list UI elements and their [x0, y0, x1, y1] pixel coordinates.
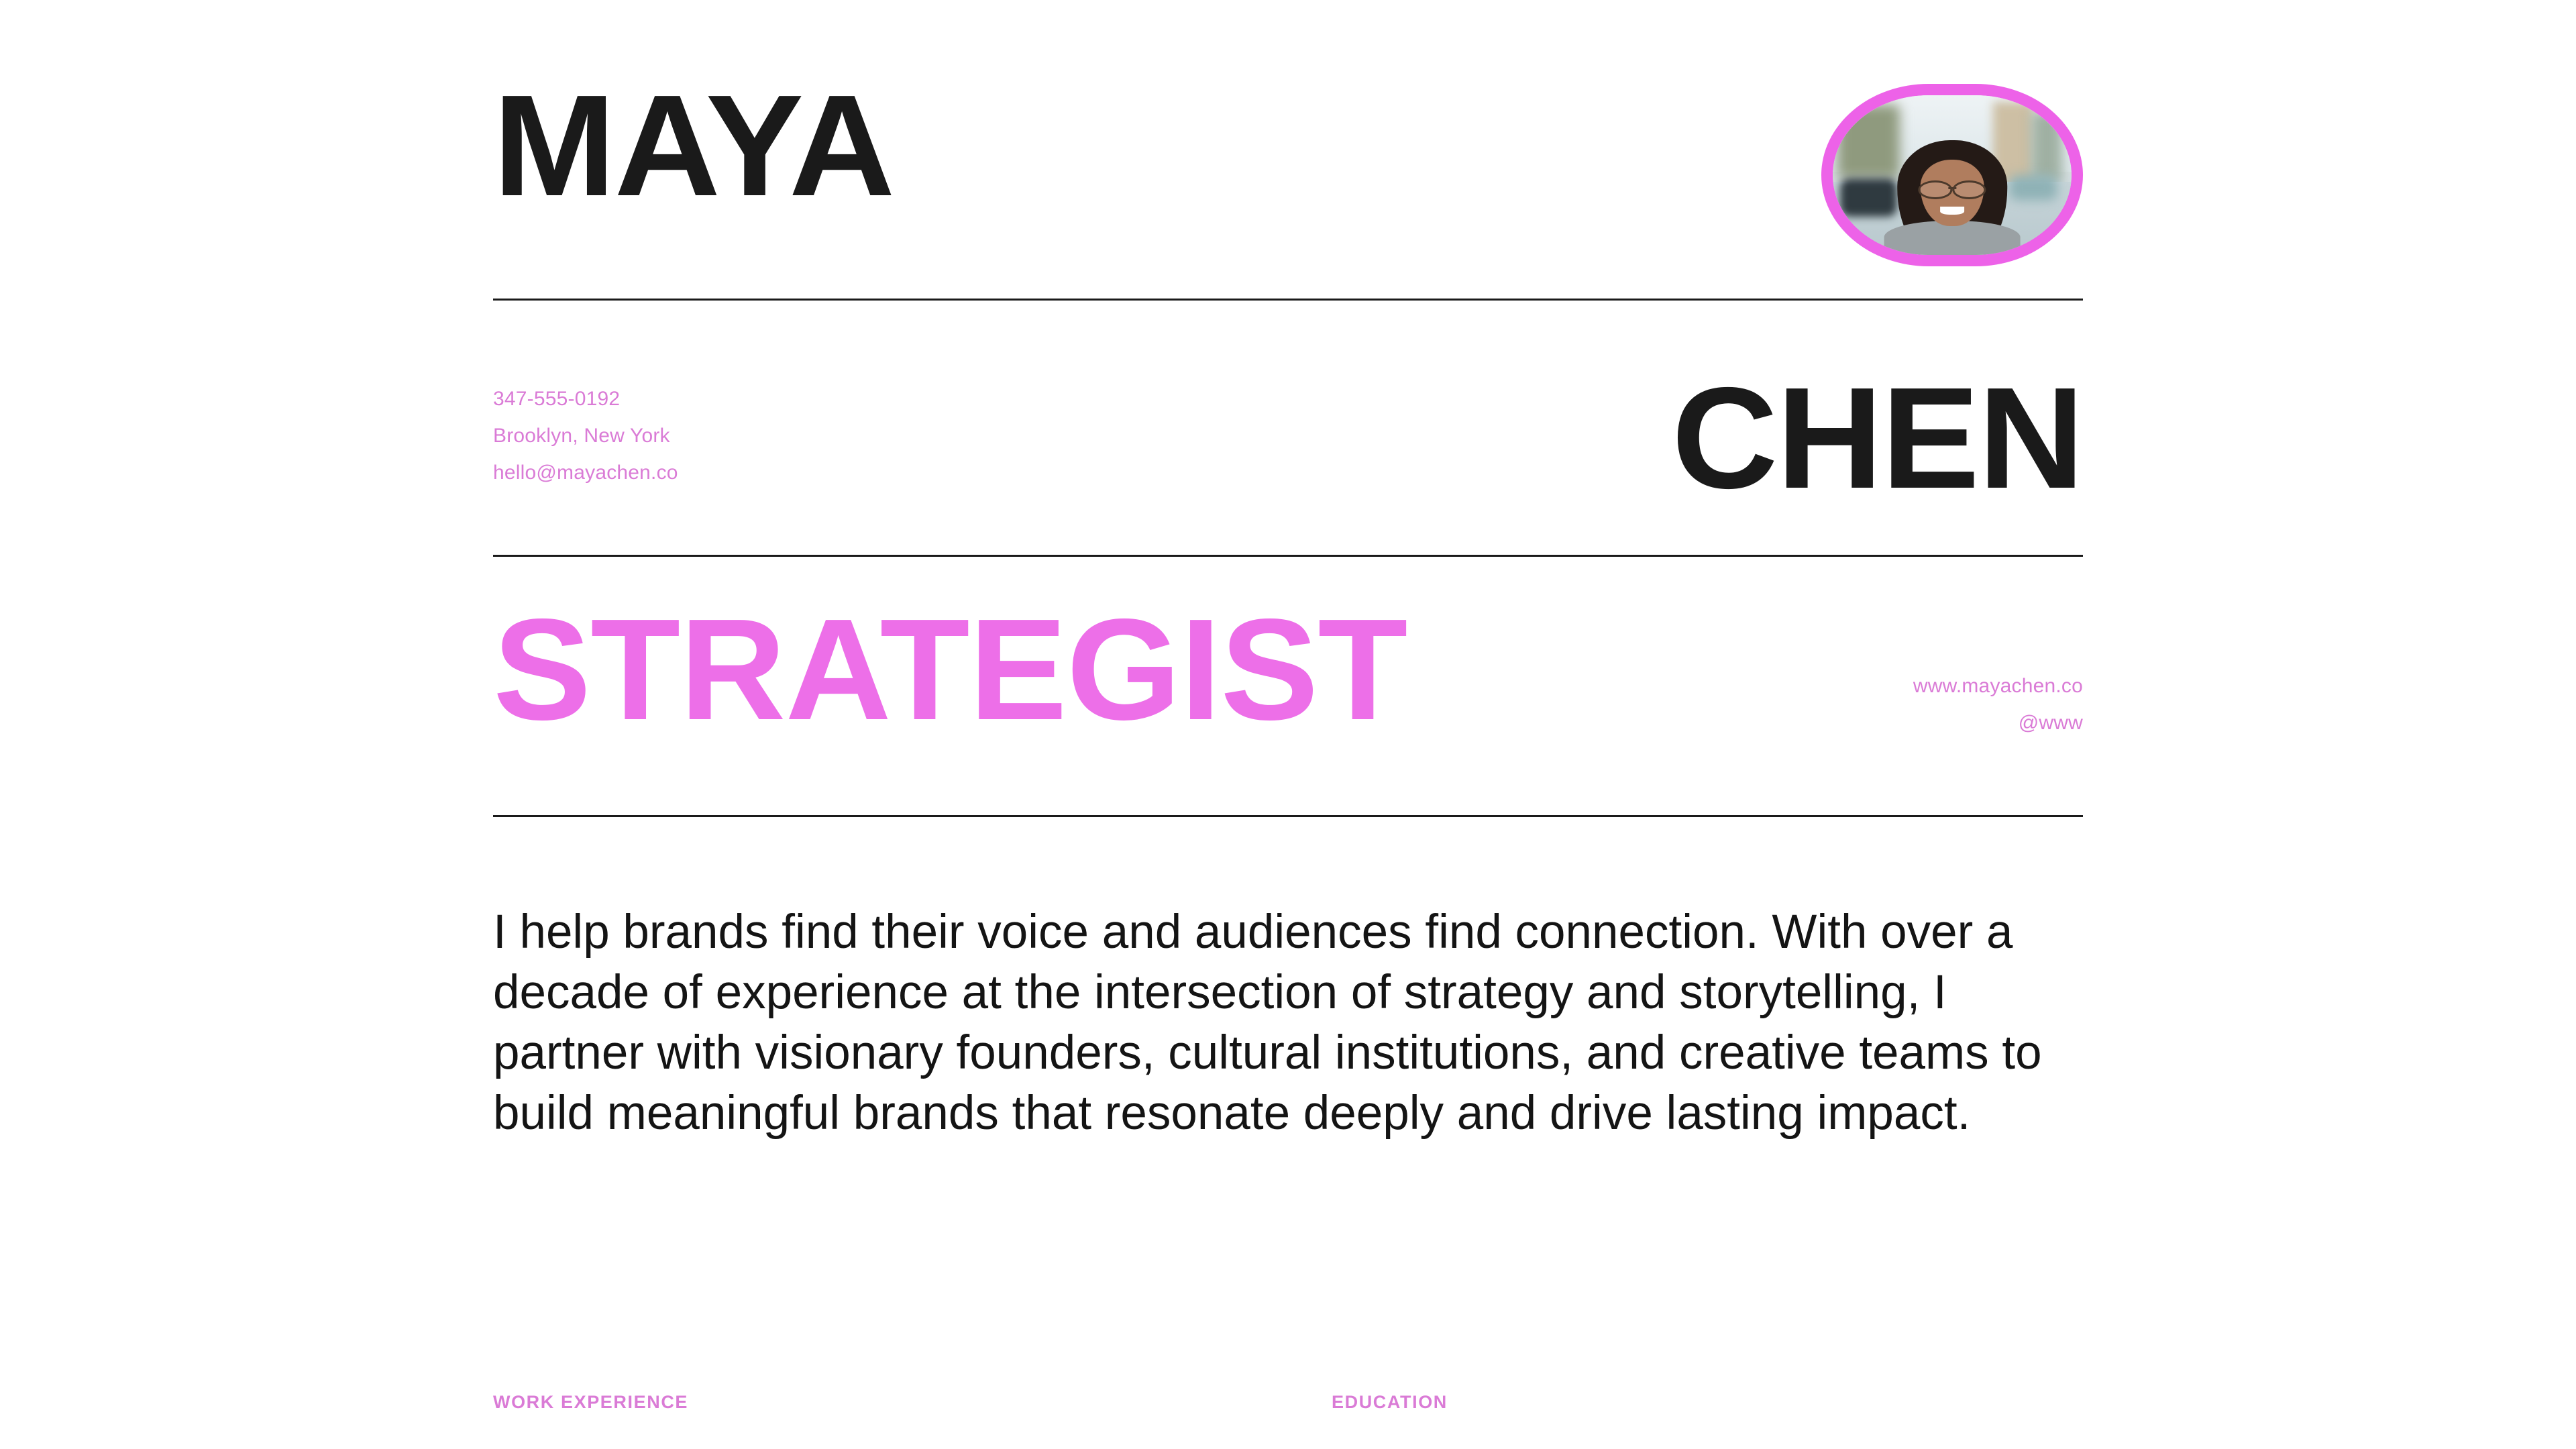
- divider-1: [493, 299, 2083, 301]
- content-column: MAYA: [493, 0, 2083, 1449]
- avatar: [1821, 84, 2083, 266]
- contact-row: 347-555-0192 Brooklyn, New York hello@ma…: [493, 366, 2083, 547]
- contact-email[interactable]: hello@mayachen.co: [493, 454, 678, 491]
- section-label-row: WORK EXPERIENCE EDUCATION: [493, 1392, 2083, 1432]
- photo-person: [1897, 140, 2007, 255]
- divider-2: [493, 555, 2083, 557]
- link-handle[interactable]: @www: [1913, 704, 2083, 741]
- photo-tree-left: [1837, 105, 1900, 178]
- bio-paragraph: I help brands find their voice and audie…: [493, 902, 2083, 1144]
- link-website[interactable]: www.mayachen.co: [1913, 667, 2083, 704]
- web-links: www.mayachen.co @www: [1913, 667, 2083, 741]
- photo-smile: [1940, 207, 1964, 215]
- avatar-photo: [1833, 95, 2072, 255]
- section-heading-education: EDUCATION: [1332, 1392, 1448, 1413]
- photo-car-right: [2009, 175, 2057, 201]
- page-title-last-name: CHEN: [1672, 366, 2083, 510]
- glasses-lens-right: [1952, 180, 1986, 199]
- glasses-lens-left: [1918, 180, 1952, 199]
- role-row: STRATEGIST www.mayachen.co @www: [493, 597, 2083, 792]
- role-title: STRATEGIST: [493, 597, 1407, 741]
- resume-page: MAYA: [0, 0, 2576, 1449]
- photo-car-left: [1840, 178, 1897, 217]
- contact-list: 347-555-0192 Brooklyn, New York hello@ma…: [493, 380, 678, 491]
- divider-3: [493, 815, 2083, 817]
- glasses-bridge: [1948, 187, 1956, 189]
- page-title-first-name: MAYA: [493, 79, 894, 212]
- header-top-row: MAYA: [493, 79, 2083, 280]
- section-heading-work-experience: WORK EXPERIENCE: [493, 1392, 688, 1413]
- photo-tree-right: [2031, 111, 2062, 182]
- contact-phone[interactable]: 347-555-0192: [493, 380, 678, 417]
- contact-location: Brooklyn, New York: [493, 417, 678, 454]
- glasses-icon: [1918, 180, 1986, 195]
